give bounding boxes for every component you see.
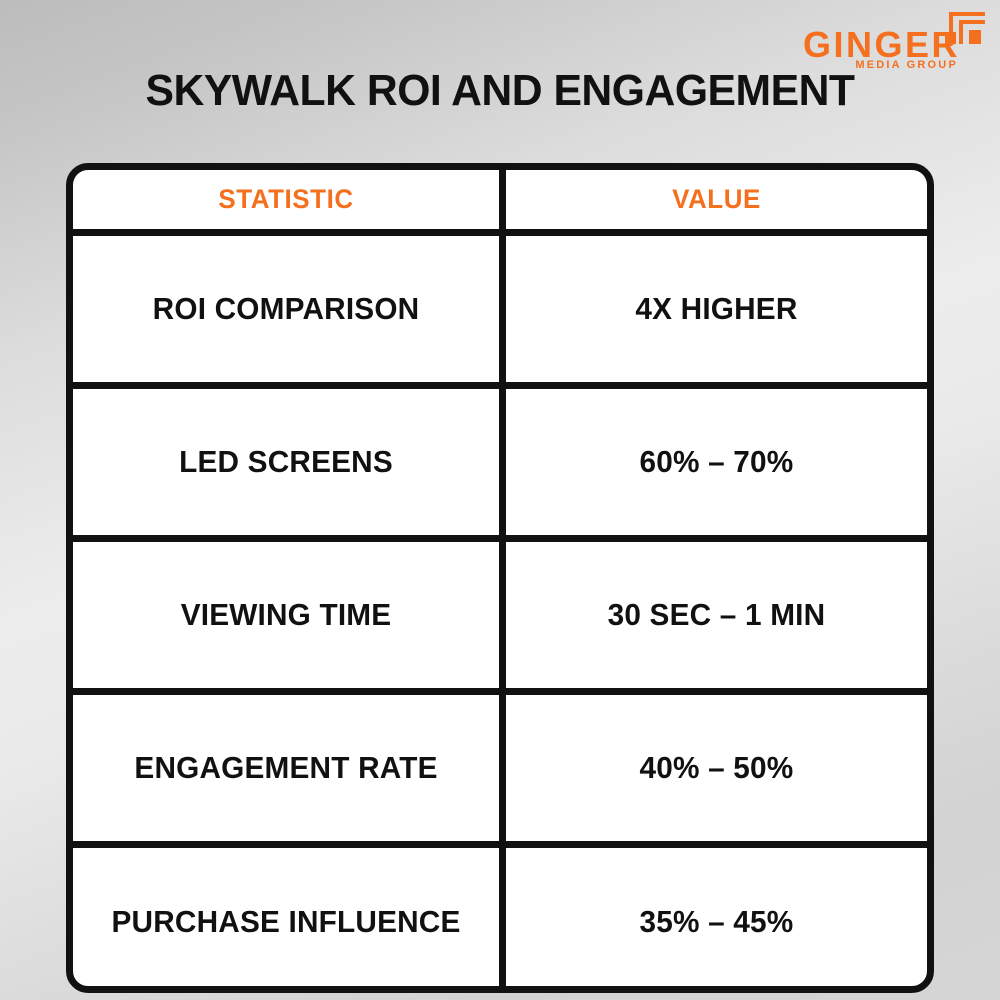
brand-name: GINGER	[803, 27, 960, 63]
statistic-label: VIEWING TIME	[95, 597, 477, 633]
value-label: 30 SEC – 1 MIN	[528, 597, 905, 633]
table-row: PURCHASE INFLUENCE 35% – 45%	[73, 844, 927, 993]
statistic-label: ENGAGEMENT RATE	[95, 750, 477, 786]
table-header-row: STATISTIC VALUE	[73, 170, 927, 232]
cell-statistic: PURCHASE INFLUENCE	[73, 844, 503, 993]
cell-statistic: ROI COMPARISON	[73, 232, 503, 385]
statistic-label: LED SCREENS	[95, 444, 477, 480]
table-row: LED SCREENS 60% – 70%	[73, 385, 927, 538]
cell-statistic: LED SCREENS	[73, 385, 503, 538]
header-label-statistic: STATISTIC	[95, 184, 477, 215]
cell-value: 35% – 45%	[503, 844, 927, 993]
cell-statistic: ENGAGEMENT RATE	[73, 691, 503, 844]
value-label: 60% – 70%	[528, 444, 905, 480]
infographic-page: GINGER MEDIA GROUP SKYWALK ROI AND ENGAG…	[0, 0, 1000, 1000]
cell-statistic: VIEWING TIME	[73, 538, 503, 691]
cell-value: 60% – 70%	[503, 385, 927, 538]
page-title: SKYWALK ROI AND ENGAGEMENT	[15, 66, 985, 116]
statistic-label: ROI COMPARISON	[95, 291, 477, 327]
statistic-label: PURCHASE INFLUENCE	[95, 904, 477, 940]
cell-value: 30 SEC – 1 MIN	[503, 538, 927, 691]
value-label: 35% – 45%	[528, 904, 905, 940]
table-row: ENGAGEMENT RATE 40% – 50%	[73, 691, 927, 844]
header-cell-statistic: STATISTIC	[73, 170, 503, 232]
cell-value: 40% – 50%	[503, 691, 927, 844]
table-row: ROI COMPARISON 4X HIGHER	[73, 232, 927, 385]
header-label-value: VALUE	[528, 184, 905, 215]
value-label: 40% – 50%	[528, 750, 905, 786]
cell-value: 4X HIGHER	[503, 232, 927, 385]
header-cell-value: VALUE	[503, 170, 927, 232]
value-label: 4X HIGHER	[528, 291, 905, 327]
table-row: VIEWING TIME 30 SEC – 1 MIN	[73, 538, 927, 691]
statistics-table: STATISTIC VALUE ROI COMPARISON 4X HIGHER	[66, 163, 934, 993]
